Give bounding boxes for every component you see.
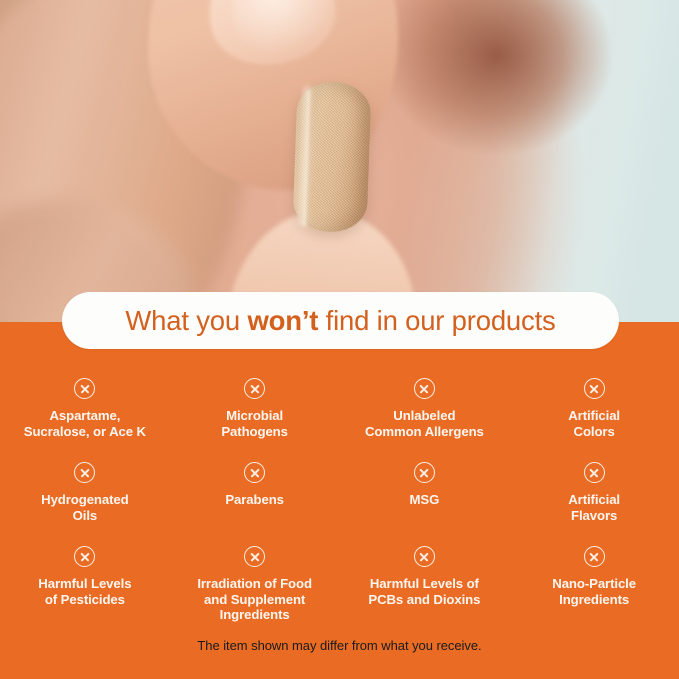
exclusion-label: Hydrogenated Oils	[41, 492, 128, 523]
title-prefix: What you	[125, 305, 247, 336]
exclusion-label: Artificial Colors	[568, 408, 620, 439]
product-infographic-page: Aspartame, Sucralose, or Ace K Microbial…	[0, 0, 679, 679]
exclusions-row: Hydrogenated Oils Parabens MSG Artificia…	[0, 458, 679, 542]
exclusion-item: Harmful Levels of PCBs and Dioxins	[340, 542, 510, 628]
exclusion-item: Aspartame, Sucralose, or Ace K	[0, 374, 170, 458]
exclusion-item: Irradiation of Food and Supplement Ingre…	[170, 542, 340, 628]
title-suffix: find in our products	[318, 305, 555, 336]
exclusion-label: Harmful Levels of Pesticides	[38, 576, 131, 607]
exclusions-row: Harmful Levels of Pesticides Irradiation…	[0, 542, 679, 628]
exclusions-grid: Aspartame, Sucralose, or Ace K Microbial…	[0, 374, 679, 628]
circle-x-icon	[244, 462, 265, 483]
circle-x-icon	[244, 546, 265, 567]
exclusion-label: Irradiation of Food and Supplement Ingre…	[197, 576, 312, 623]
exclusion-label: Microbial Pathogens	[221, 408, 288, 439]
title-emphasis: won’t	[247, 305, 318, 336]
exclusion-item: Unlabeled Common Allergens	[340, 374, 510, 458]
exclusion-label: MSG	[410, 492, 440, 508]
circle-x-icon	[584, 546, 605, 567]
circle-x-icon	[584, 378, 605, 399]
circle-x-icon	[74, 546, 95, 567]
title-banner: What you won’t find in our products	[62, 292, 619, 349]
disclaimer-text: The item shown may differ from what you …	[0, 638, 679, 653]
exclusion-label: Nano-Particle Ingredients	[552, 576, 636, 607]
exclusion-item: Microbial Pathogens	[170, 374, 340, 458]
exclusion-item: Parabens	[170, 458, 340, 542]
circle-x-icon	[414, 378, 435, 399]
exclusion-label: Unlabeled Common Allergens	[365, 408, 484, 439]
exclusion-label: Harmful Levels of PCBs and Dioxins	[368, 576, 480, 607]
circle-x-icon	[244, 378, 265, 399]
exclusion-label: Parabens	[225, 492, 284, 508]
exclusions-panel: Aspartame, Sucralose, or Ace K Microbial…	[0, 322, 679, 679]
circle-x-icon	[74, 462, 95, 483]
exclusion-label: Aspartame, Sucralose, or Ace K	[24, 408, 146, 439]
circle-x-icon	[584, 462, 605, 483]
exclusion-item: Artificial Colors	[509, 374, 679, 458]
circle-x-icon	[414, 546, 435, 567]
exclusion-item: Artificial Flavors	[509, 458, 679, 542]
exclusions-row: Aspartame, Sucralose, or Ace K Microbial…	[0, 374, 679, 458]
exclusion-item: Harmful Levels of Pesticides	[0, 542, 170, 628]
exclusion-item: Nano-Particle Ingredients	[509, 542, 679, 628]
circle-x-icon	[74, 378, 95, 399]
exclusion-item: Hydrogenated Oils	[0, 458, 170, 542]
exclusion-item: MSG	[340, 458, 510, 542]
exclusion-label: Artificial Flavors	[568, 492, 620, 523]
page-title: What you won’t find in our products	[125, 305, 555, 337]
circle-x-icon	[414, 462, 435, 483]
product-photo	[0, 0, 679, 323]
